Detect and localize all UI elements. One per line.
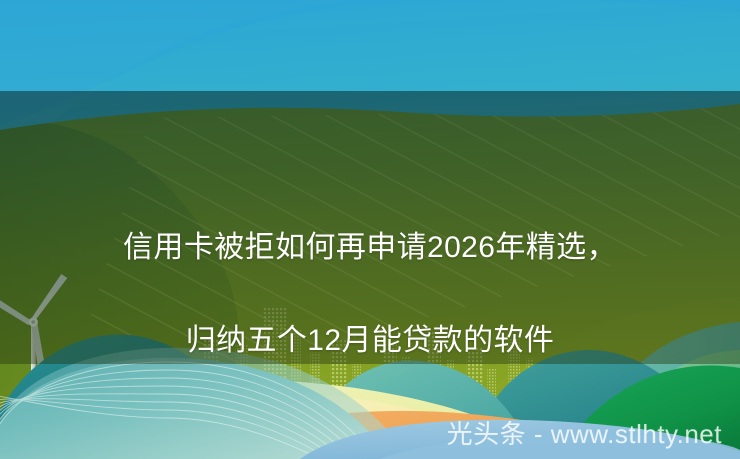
page-title: 信用卡被拒如何再申请2026年精选， 归纳五个12月能贷款的软件 xyxy=(0,178,740,411)
headline-line-1: 信用卡被拒如何再申请2026年精选， xyxy=(36,225,704,272)
site-watermark: 光头条 - www.stlhty.net xyxy=(447,421,722,447)
headline-line-2: 归纳五个12月能贷款的软件 xyxy=(36,318,704,365)
article-cover-card: 信用卡被拒如何再申请2026年精选， 归纳五个12月能贷款的软件 光头条 - w… xyxy=(0,0,740,459)
